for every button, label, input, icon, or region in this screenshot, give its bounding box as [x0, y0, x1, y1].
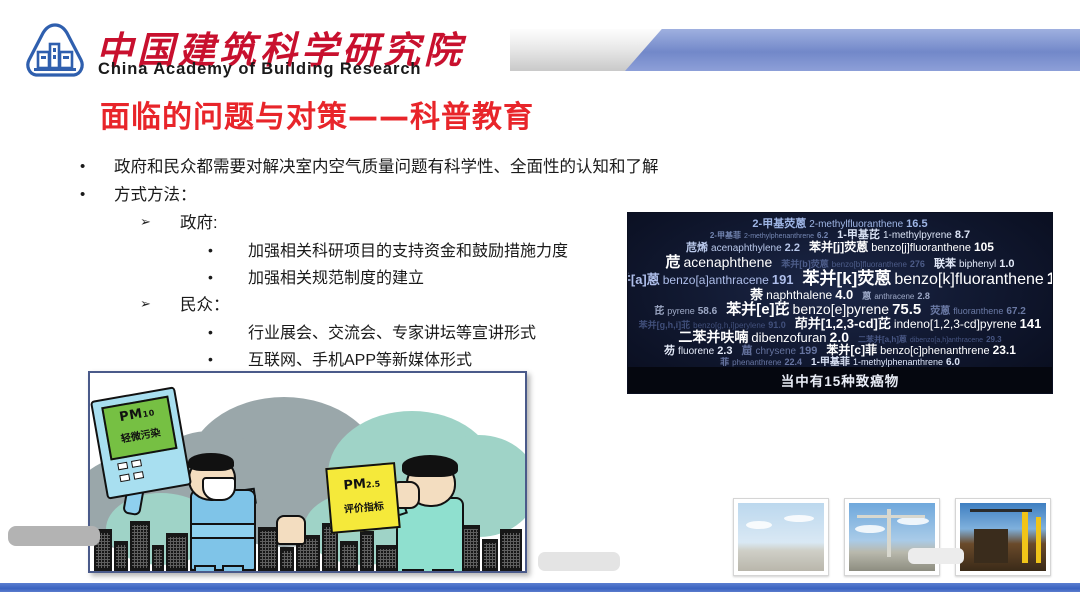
word-cloud-term: 苯并[b]荧蒽benzo[b]fluoranthene276: [781, 260, 925, 269]
term-en: benzo[e]pyrene: [793, 302, 890, 316]
word-cloud-term: 荧蒽fluoranthene67.2: [930, 307, 1026, 317]
bullet-marker: •: [208, 267, 248, 287]
word-cloud-term: 芴fluorene2.3: [664, 346, 732, 357]
arrow-bullet-marker: ➢: [140, 294, 180, 314]
bullet-marker: •: [208, 240, 248, 260]
term-en: benzo[b]fluoranthene: [832, 261, 907, 269]
term-cn: 苊: [665, 255, 680, 270]
word-cloud-row: 萘naphthalene4.0蒽anthracene2.8: [628, 288, 1052, 301]
term-value: 6.2: [817, 232, 828, 240]
term-value: 8.7: [955, 230, 970, 241]
pm10-handheld-device: PM10 轻微污染: [90, 386, 192, 499]
word-cloud-term: 菲phenanthrene22.4: [720, 358, 802, 367]
term-en: indeno[1,2,3-cd]pyrene: [894, 318, 1017, 330]
term-en: benzo[c]phenanthrene: [880, 346, 989, 357]
footer-padding: [0, 592, 1080, 603]
word-cloud-term: 蒽anthracene2.8: [862, 292, 930, 301]
term-value: 75.5: [892, 302, 921, 317]
term-cn: 苯并[j]荧蒽: [809, 241, 868, 253]
term-cn: 茚并[1,2,3-cd]芘: [795, 317, 891, 330]
word-cloud-term: 联苯biphenyl1.0: [934, 259, 1015, 270]
header-decor-bar-blue: [625, 29, 1080, 71]
term-en: benzo[j]fluoranthene: [871, 243, 971, 254]
list-item: • 政府和民众都需要对解决室内空气质量问题有科学性、全面性的认知和了解: [80, 156, 740, 180]
term-en: 1-methylpyrene: [883, 231, 952, 241]
term-en: fluoranthene: [953, 307, 1003, 316]
term-cn: 二苯并[a,h]蒽: [858, 336, 907, 344]
term-value: 120: [1047, 270, 1052, 287]
list-item-text: 政府和民众都需要对解决室内空气质量问题有科学性、全面性的认知和了解: [114, 156, 659, 180]
term-en: benzo[k]fluoranthene: [894, 272, 1043, 288]
footer-placeholder-right: [908, 548, 964, 564]
term-cn: 苯并[a]蒽: [628, 273, 660, 286]
word-cloud-caption: 当中有15种致癌物: [628, 367, 1052, 393]
footer-placeholder-left: [8, 526, 100, 546]
term-cn: 2-甲基荧蒽: [752, 219, 806, 230]
photo-image: [738, 503, 824, 571]
pm10-subscript: 10: [142, 408, 156, 419]
list-item-text: 加强相关科研项目的支持资金和鼓励措施力度: [248, 240, 568, 263]
list-item-text: 民众：: [180, 294, 230, 318]
list-item: • 方式方法：: [80, 184, 740, 208]
word-cloud-term: 二苯并[a,h]蒽dibenzo[a,h]anthracene29.3: [858, 336, 1002, 344]
word-cloud-rows: 2-甲基荧蒽2-methylfluoranthene16.52-甲基菲2-met…: [628, 219, 1052, 367]
term-value: 2.3: [717, 346, 732, 357]
term-value: 2.2: [785, 243, 800, 254]
list-item-text: 行业展会、交流会、专家讲坛等宣讲形式: [248, 322, 536, 345]
term-cn: 蒽: [862, 292, 871, 301]
pah-word-cloud-image: 2-甲基荧蒽2-methylfluoranthene16.52-甲基菲2-met…: [628, 213, 1052, 393]
term-en: dibenzofuran: [751, 331, 826, 344]
construction-site-photo-2[interactable]: [844, 498, 940, 576]
term-cn: 菲: [720, 358, 729, 367]
term-cn: 芘: [654, 307, 664, 317]
term-en: anthracene: [874, 293, 914, 301]
word-cloud-row: 苊烯acenaphthylene2.2苯并[j]荧蒽benzo[j]fluora…: [628, 241, 1052, 254]
pm25-sign: PM2.5 评价指标: [325, 462, 400, 534]
pm25-label: PM: [343, 477, 367, 494]
construction-site-photo-3[interactable]: [955, 498, 1051, 576]
term-value: 22.4: [785, 358, 803, 367]
term-value: 191: [772, 273, 794, 286]
term-cn: 苯并[g,h,i]苝: [639, 321, 691, 330]
word-cloud-term: 二苯并呋喃dibenzofuran2.0: [678, 330, 849, 344]
term-en: chrysene: [755, 347, 796, 357]
term-cn: 䓛: [741, 346, 752, 357]
bullet-marker: •: [208, 349, 248, 369]
term-en: phenanthrene: [732, 359, 781, 367]
cabr-logo-icon: [24, 22, 86, 80]
construction-site-photo-1[interactable]: [733, 498, 829, 576]
term-en: naphthalene: [766, 289, 832, 301]
term-cn: 苯并[b]荧蒽: [781, 260, 829, 269]
bullet-marker: •: [208, 322, 248, 342]
term-value: 67.2: [1006, 307, 1025, 317]
pm-pollution-cartoon-image: PM10 轻微污染 PM2.5 评价指标: [88, 371, 527, 573]
term-cn: 苯并[c]菲: [826, 344, 877, 356]
term-cn: 萘: [750, 288, 763, 301]
word-cloud-term: 苯并[g,h,i]苝benzo[g,h,i]perylene91.0: [639, 321, 786, 330]
term-en: dibenzo[a,h]anthracene: [910, 337, 983, 344]
org-name-en: China Academy of Building Research: [98, 60, 421, 79]
term-value: 141: [1020, 317, 1042, 330]
term-cn: 苯并[k]荧蒽: [803, 270, 892, 287]
term-en: fluorene: [678, 347, 714, 357]
photo-image: [960, 503, 1046, 571]
term-value: 1.0: [999, 259, 1014, 270]
term-value: 58.6: [698, 307, 717, 317]
term-cn: 2-甲基菲: [710, 232, 741, 240]
pm25-sublabel: 评价指标: [330, 496, 397, 517]
arrow-bullet-marker: ➢: [140, 212, 180, 232]
term-value: 29.3: [986, 336, 1002, 344]
term-value: 23.1: [993, 344, 1016, 356]
word-cloud-row: 苊acenaphthene苯并[b]荧蒽benzo[b]fluoranthene…: [628, 255, 1052, 270]
word-cloud-term: 茚并[1,2,3-cd]芘indeno[1,2,3-cd]pyrene141: [795, 317, 1042, 330]
term-value: 276: [910, 260, 925, 269]
word-cloud-term: 苯并[a]蒽benzo[a]anthracene191: [628, 273, 794, 286]
term-en: pyrene: [667, 307, 695, 316]
term-cn: 荧蒽: [930, 307, 950, 317]
term-cn: 芴: [664, 346, 675, 357]
word-cloud-term: 苊acenaphthene: [665, 255, 772, 270]
term-value: 16.5: [906, 219, 927, 230]
term-cn: 苯并[e]芘: [726, 302, 789, 317]
footer-placeholder-middle: [538, 552, 620, 571]
term-en: benzo[a]anthracene: [663, 274, 769, 286]
term-cn: 联苯: [934, 259, 956, 270]
slide-header: 中国建筑科学研究院 China Academy of Building Rese…: [0, 0, 1080, 88]
slide: 中国建筑科学研究院 China Academy of Building Rese…: [0, 0, 1080, 603]
term-en: biphenyl: [959, 260, 996, 270]
word-cloud-term: 䓛chrysene199: [741, 346, 817, 357]
term-cn: 二苯并呋喃: [678, 330, 748, 344]
word-cloud-term: 苯并[k]荧蒽benzo[k]fluoranthene120: [803, 270, 1052, 288]
word-cloud-term: 苯并[c]菲benzo[c]phenanthrene23.1: [826, 344, 1016, 357]
word-cloud-term: 萘naphthalene4.0: [750, 288, 853, 301]
term-en: benzo[g,h,i]perylene: [693, 322, 765, 330]
word-cloud-row: 苯并[g,h,i]苝benzo[g,h,i]perylene91.0茚并[1,2…: [628, 317, 1052, 330]
word-cloud-term: 苊烯acenaphthylene2.2: [686, 243, 800, 254]
word-cloud-row: 苯并[a]蒽benzo[a]anthracene191苯并[k]荧蒽benzo[…: [628, 270, 1052, 288]
term-en: acenaphthene: [683, 255, 772, 269]
pm25-subscript: 2.5: [366, 479, 381, 489]
term-value: 105: [974, 241, 994, 253]
footer-bar: [0, 583, 1080, 592]
term-en: 1-methylphenanthrene: [853, 358, 943, 367]
list-item-text: 互联网、手机APP等新媒体形式: [248, 349, 472, 372]
term-value: 4.0: [835, 288, 853, 301]
list-item-text: 政府:: [180, 212, 218, 236]
word-cloud-term: 2-甲基菲2-methylphenanthrene6.2: [710, 232, 828, 240]
bullet-marker: •: [80, 184, 114, 206]
term-en: 2-methylphenanthrene: [744, 233, 814, 240]
word-cloud-term: 苯并[j]荧蒽benzo[j]fluoranthene105: [809, 241, 994, 254]
photo-thumbnail-strip: [733, 498, 1053, 576]
bullet-marker: •: [80, 156, 114, 178]
page-title: 面临的问题与对策——科普教育: [100, 92, 534, 136]
pm10-label: PM: [118, 406, 144, 425]
term-value: 91.0: [768, 321, 786, 330]
word-cloud-term: 芘pyrene58.6: [654, 307, 717, 317]
list-item-text: 加强相关规范制度的建立: [248, 267, 424, 290]
term-value: 2.8: [917, 292, 930, 301]
word-cloud-term: 苯并[e]芘benzo[e]pyrene75.5: [726, 302, 921, 317]
term-value: 199: [799, 346, 817, 357]
term-cn: 苊烯: [686, 243, 708, 254]
word-cloud-row: 芘pyrene58.6苯并[e]芘benzo[e]pyrene75.5荧蒽flu…: [628, 302, 1052, 317]
list-item-text: 方式方法：: [114, 184, 197, 208]
word-cloud-row: 芴fluorene2.3䓛chrysene199苯并[c]菲benzo[c]ph…: [628, 344, 1052, 357]
